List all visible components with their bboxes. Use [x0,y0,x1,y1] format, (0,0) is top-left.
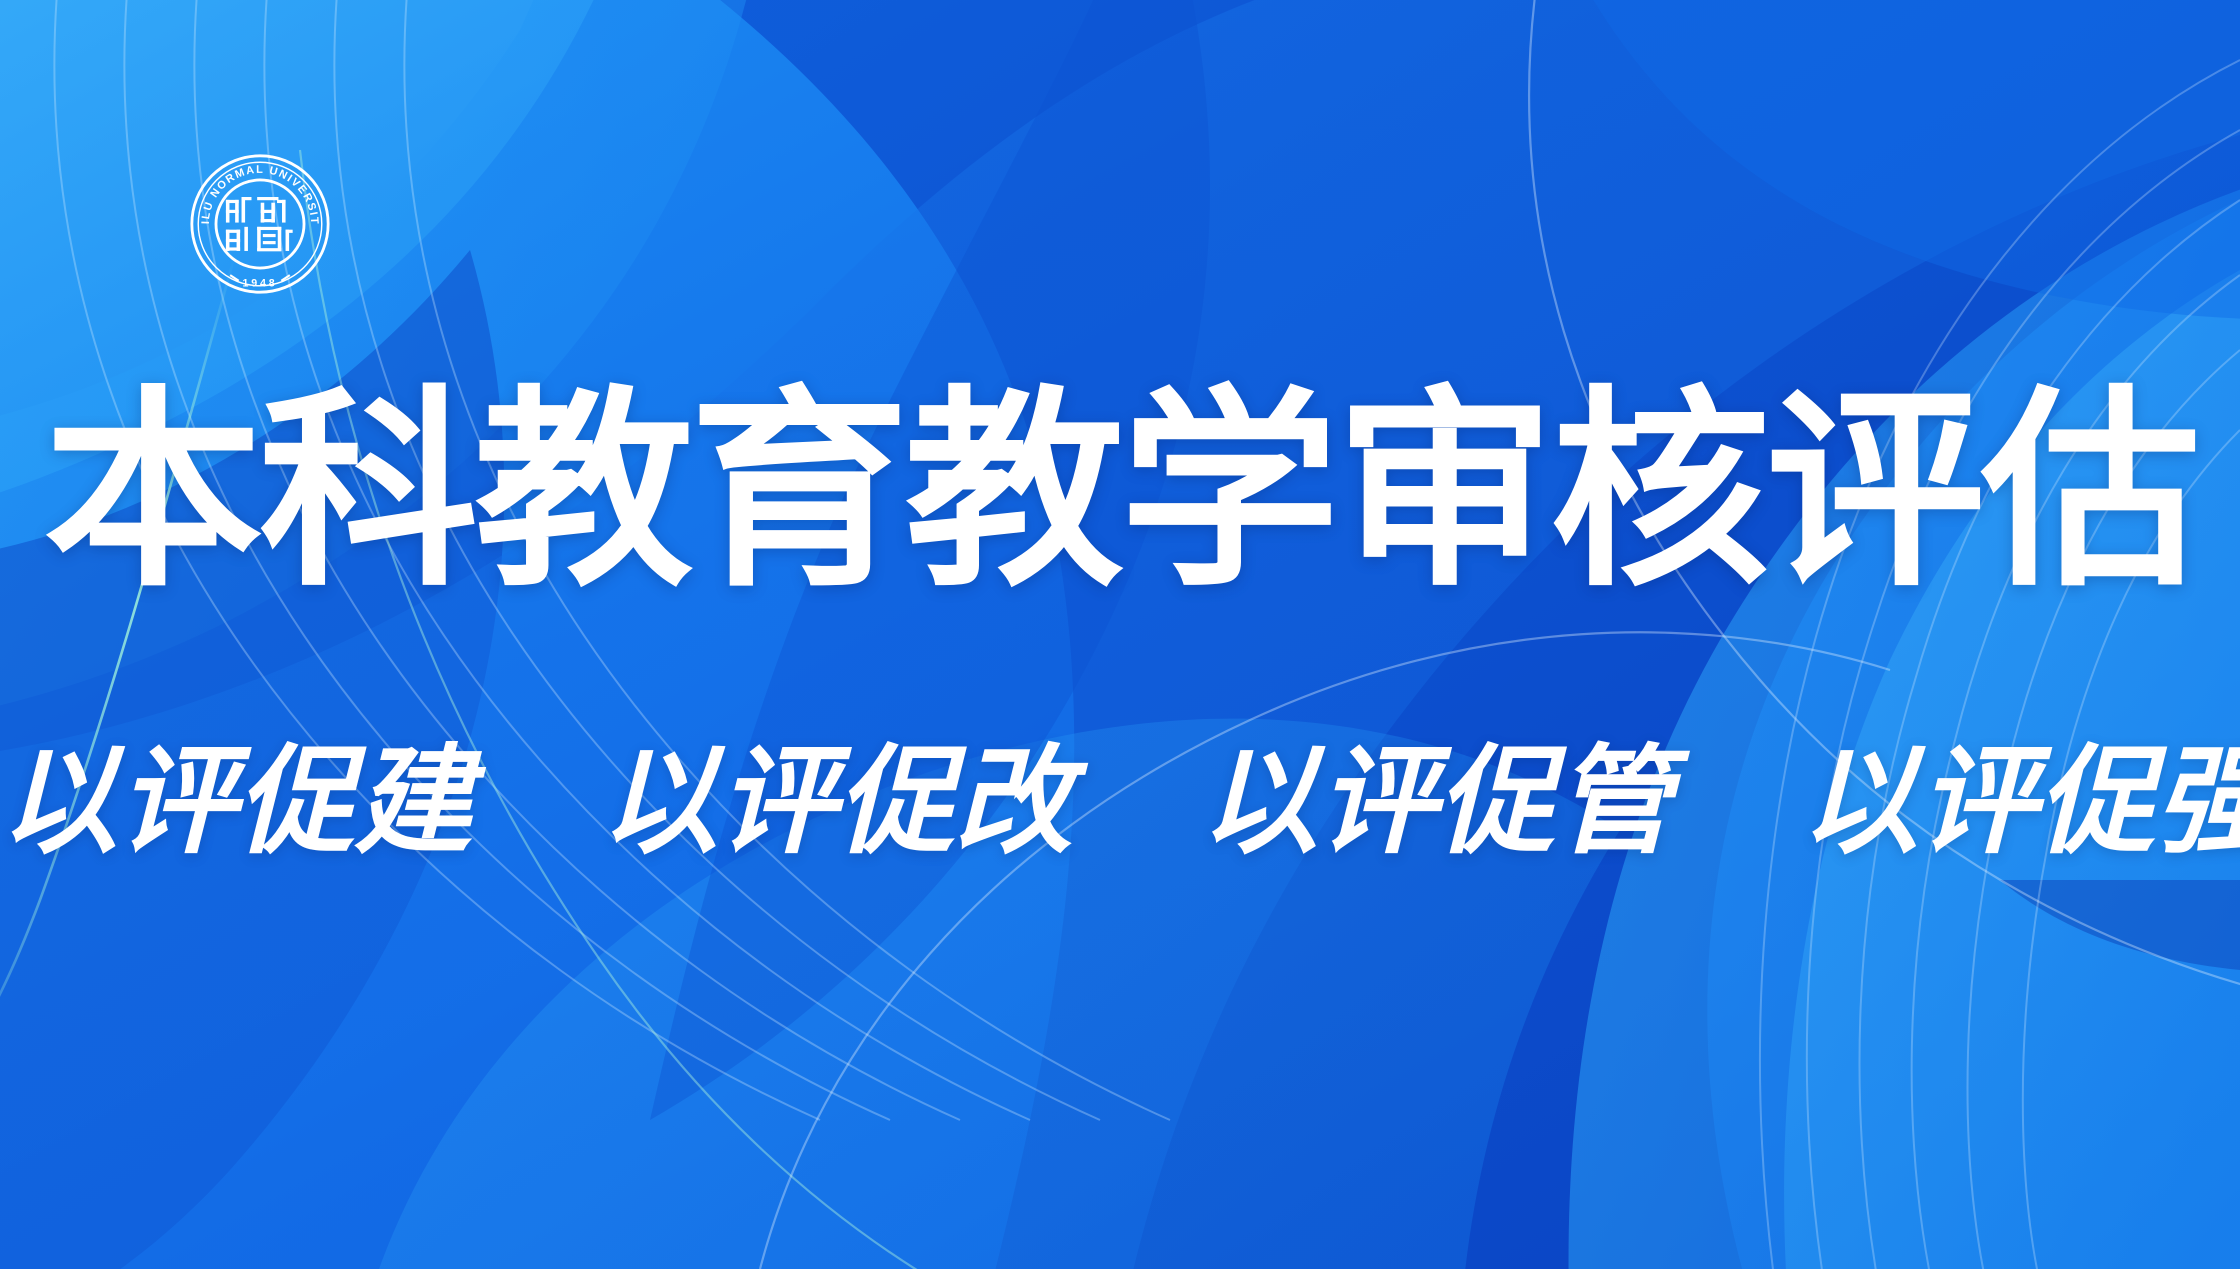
seal-founded-year: 1948 [242,277,277,289]
seal-inner-glyphs [226,197,293,251]
decorative-background [0,0,2240,1269]
page-title: 本科教育教学审核评估 [0,380,2240,606]
university-seal-logo: QILU NORMAL UNIVERSITY [189,153,331,295]
slogan: 以评促建 以评促改 以评促管 以评促强 [0,735,2240,867]
slogan-phrase-3: 以评促管 [1200,731,1672,870]
slogan-phrase-2: 以评促改 [600,731,1072,870]
slogan-phrase-1: 以评促建 [0,731,472,870]
poster-canvas: QILU NORMAL UNIVERSITY [0,0,2240,1269]
slogan-phrase-4: 以评促强 [1801,731,2240,870]
